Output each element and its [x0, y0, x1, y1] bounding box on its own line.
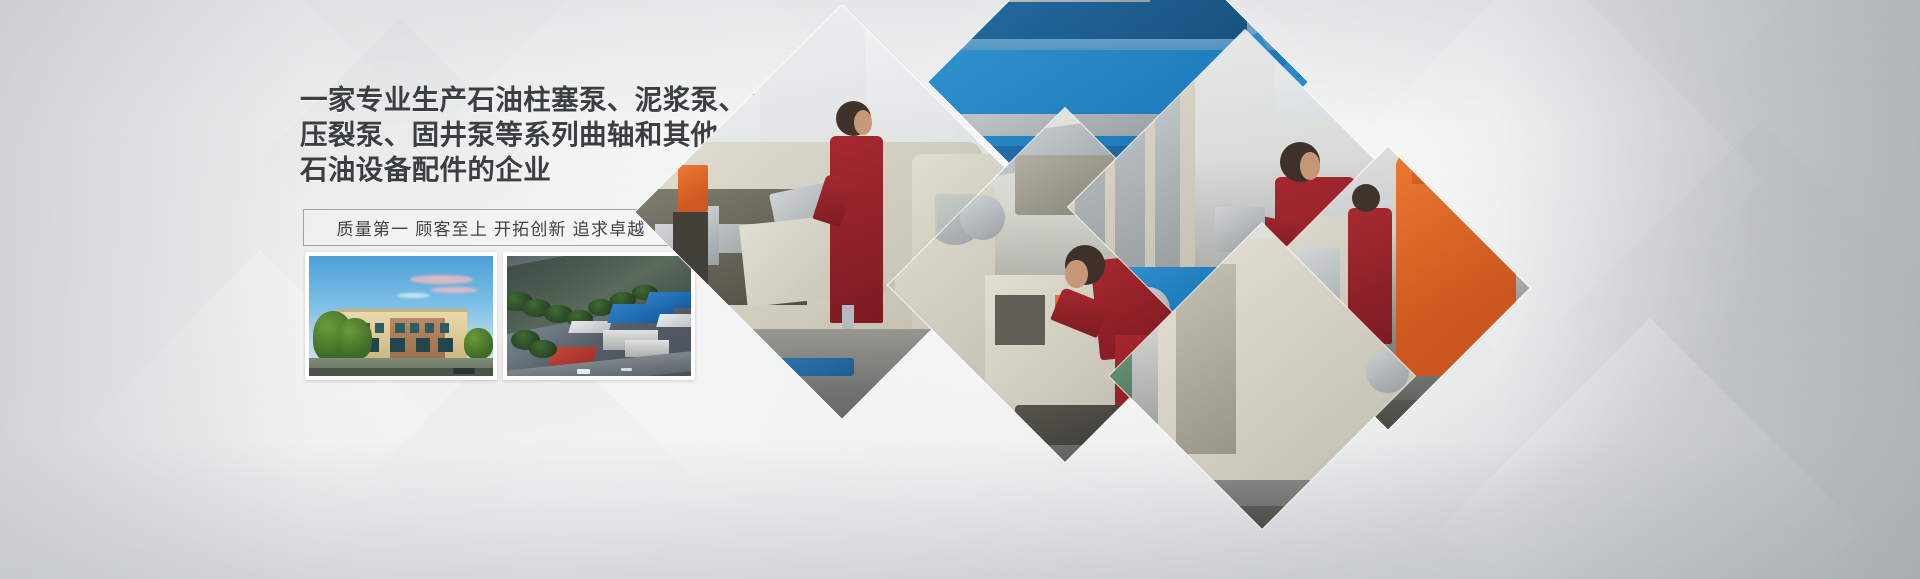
headline-line-3: 石油设备配件的企业 [300, 152, 720, 187]
slogan-text: 质量第一 顾客至上 开拓创新 追求卓越 [337, 215, 646, 240]
photo-collage [688, 24, 1308, 424]
company-banner: 一家专业生产石油柱塞泵、泥浆泵、 压裂泵、固井泵等系列曲轴和其他 石油设备配件的… [0, 0, 1920, 579]
page-title: 一家专业生产石油柱塞泵、泥浆泵、 压裂泵、固井泵等系列曲轴和其他 石油设备配件的… [300, 82, 720, 187]
headline-line-2: 压裂泵、固井泵等系列曲轴和其他 [300, 117, 720, 152]
photo-office-building [305, 252, 497, 380]
headline-line-1: 一家专业生产石油柱塞泵、泥浆泵、 [300, 82, 720, 117]
photo-factory-aerial [503, 252, 695, 380]
slogan-box: 质量第一 顾客至上 开拓创新 追求卓越 [303, 209, 679, 246]
